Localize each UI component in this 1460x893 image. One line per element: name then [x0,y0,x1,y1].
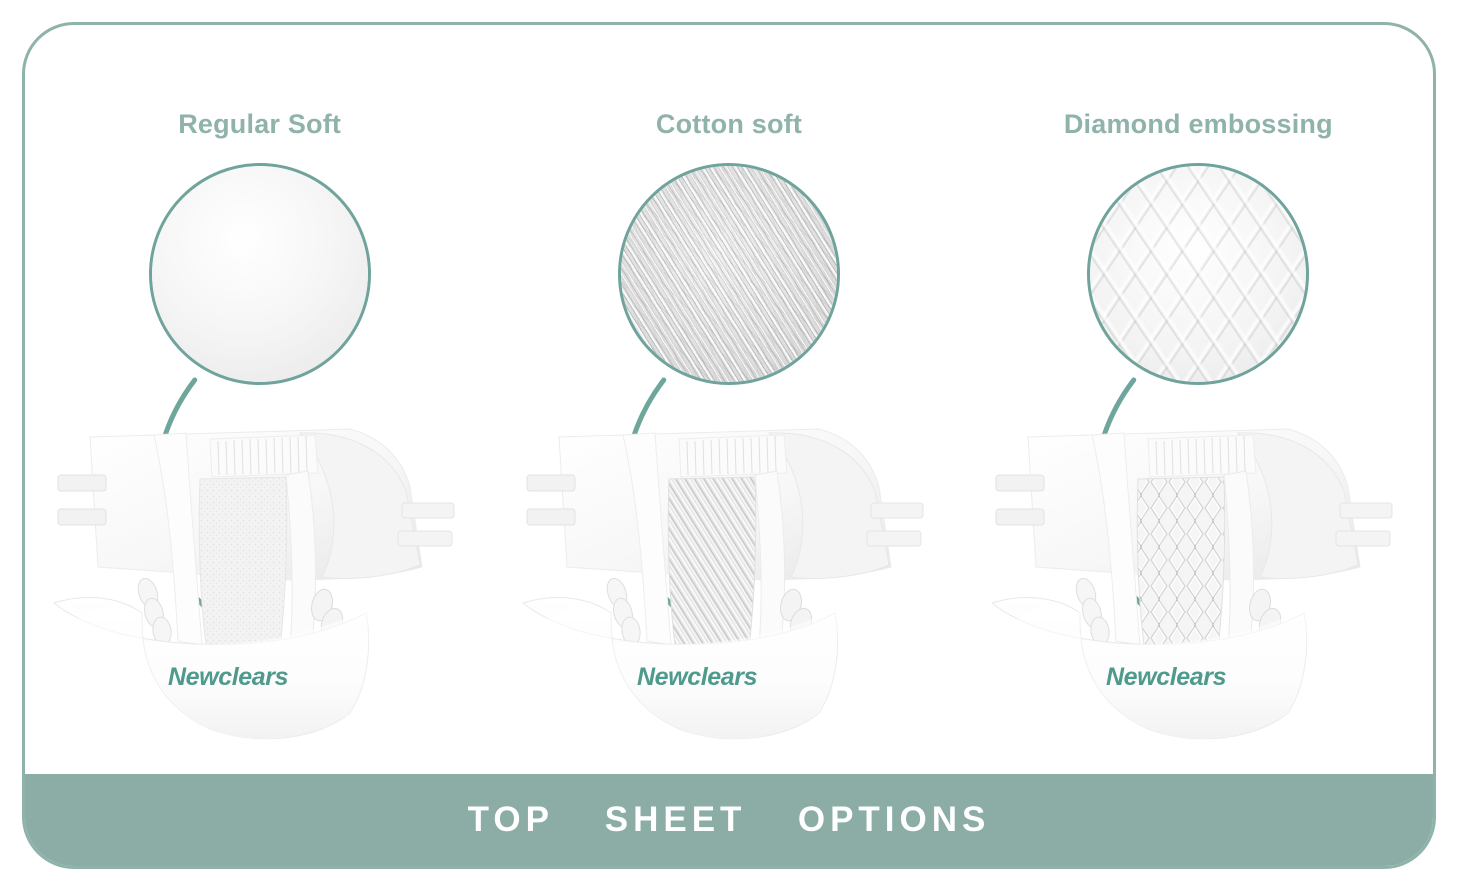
swatch-cotton-soft [618,163,840,385]
texture-regular-soft [152,166,368,382]
bottom-banner: TOP SHEET OPTIONS [25,774,1433,866]
brand-logo-diamond-embossing: Newclears [1106,663,1227,691]
diaper-illustration-regular-soft: Newclears [50,417,470,747]
texture-diamond-embossing [1090,166,1306,382]
option-title-diamond-embossing: Diamond embossing [964,109,1433,140]
diaper-illustration-diamond-embossing: Newclears [988,417,1408,747]
texture-cotton-soft [621,166,837,382]
content-frame: Regular Soft [22,22,1436,869]
brand-logo-regular-soft: Newclears [168,663,289,691]
options-row: Regular Soft [25,25,1433,781]
swatch-regular-soft [149,163,371,385]
diaper-illustration-cotton-soft: Newclears [519,417,939,747]
option-column-cotton-soft: Cotton soft [494,25,963,781]
option-column-regular-soft: Regular Soft [25,25,494,781]
brand-logo-cotton-soft: Newclears [637,663,758,691]
option-column-diamond-embossing: Diamond embossing [964,25,1433,781]
infographic-stage: Regular Soft [0,0,1460,893]
option-title-regular-soft: Regular Soft [25,109,494,140]
banner-title: TOP SHEET OPTIONS [468,800,991,840]
option-title-cotton-soft: Cotton soft [494,109,963,140]
swatch-diamond-embossing [1087,163,1309,385]
